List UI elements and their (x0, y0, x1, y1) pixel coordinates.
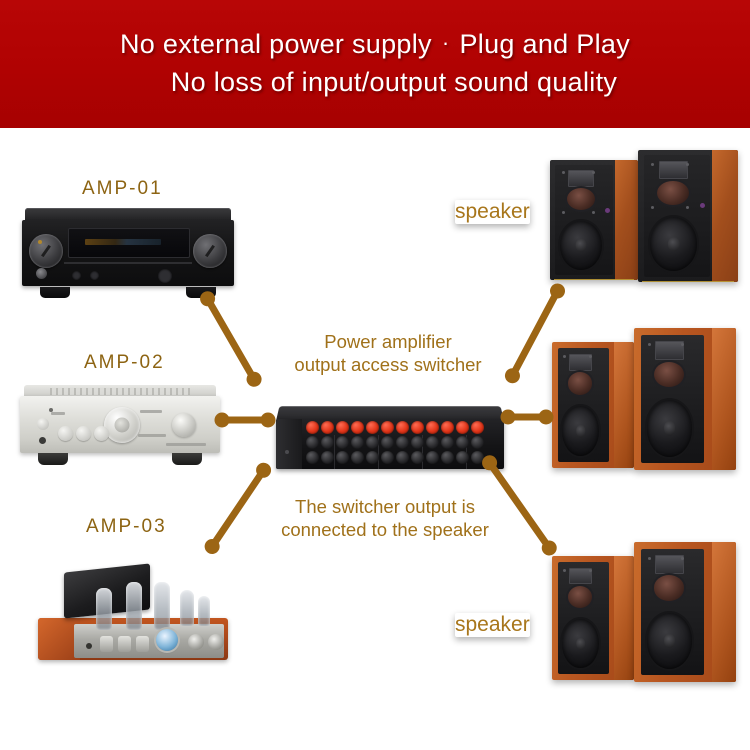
label-switcher-output-line2: connected to the speaker (255, 518, 515, 541)
switcher-post-row-negative (304, 451, 500, 464)
amp-01-foot-left (40, 287, 70, 298)
label-switcher-title-line1: Power amplifier (283, 330, 493, 353)
amp-01-power-led (38, 240, 42, 244)
banner-bullet-separator: · (432, 30, 460, 55)
woofer-driver (647, 613, 693, 668)
device-switcher (276, 405, 504, 477)
speaker-middle-right (634, 328, 736, 470)
label-switcher-title: Power amplifier output access switcher (283, 330, 493, 377)
baffle-screw (592, 171, 595, 174)
speaker-pair-bottom (548, 528, 748, 688)
switcher-post-red[interactable] (321, 421, 334, 434)
baffle-screw (563, 355, 566, 358)
woofer-driver (647, 400, 693, 456)
baffle-screw (648, 343, 651, 346)
midrange-driver (654, 575, 684, 600)
amp-02-small-knob-1 (58, 426, 73, 441)
switcher-post-black[interactable] (381, 451, 394, 464)
switcher-post-black[interactable] (456, 436, 469, 449)
switcher-post-black[interactable] (321, 436, 334, 449)
switcher-binding-post-array (304, 421, 500, 467)
switcher-post-black[interactable] (411, 451, 424, 464)
switcher-post-black[interactable] (381, 436, 394, 449)
midrange-driver (567, 188, 595, 210)
amp-02-small-knob-3 (94, 426, 109, 441)
connector-switcher-to-speakers-middle (508, 409, 546, 424)
speaker-bottom-right (634, 542, 736, 682)
amp-02-label-mark-2 (140, 410, 162, 413)
switcher-post-black[interactable] (351, 436, 364, 449)
switcher-post-red[interactable] (306, 421, 319, 434)
switcher-post-red[interactable] (456, 421, 469, 434)
speaker-baffle (644, 155, 710, 276)
amp-02-power-button (37, 418, 49, 430)
switcher-post-black[interactable] (336, 436, 349, 449)
banner-line-2: No loss of input/output sound quality (133, 65, 617, 101)
switcher-post-black[interactable] (336, 451, 349, 464)
banner-text-no-external-power: No external power supply (120, 29, 432, 59)
amp-02-foot-right (172, 453, 202, 465)
connector-endpoint (501, 409, 516, 424)
speaker-wood-side (614, 556, 634, 680)
switcher-post-row-positive (304, 421, 500, 434)
amp-02-brand-mark (166, 443, 206, 446)
baffle-screw (681, 557, 684, 560)
amp-02-small-knob-2 (76, 426, 91, 441)
amp-02-foot-left (38, 453, 68, 465)
baffle-screw (563, 569, 566, 572)
amp-03-vacuum-tube-5 (198, 596, 210, 626)
connector-amp02-to-switcher (222, 412, 268, 427)
speaker-baffle (641, 335, 704, 463)
speaker-wood-side (712, 542, 736, 682)
switcher-post-red[interactable] (426, 421, 439, 434)
woofer-driver (650, 217, 698, 270)
label-switcher-output-line1: The switcher output is (255, 495, 515, 518)
amp-02-label-mark-3 (138, 434, 166, 437)
baffle-screw (562, 171, 565, 174)
amp-03-binding-post-1 (188, 634, 204, 650)
amp-03-front-knob-3 (136, 636, 149, 652)
switcher-post-red[interactable] (381, 421, 394, 434)
label-amp-03: AMP-03 (86, 516, 167, 538)
device-amp-03 (38, 550, 228, 660)
label-speaker-top: speaker (455, 200, 530, 224)
label-amp-02: AMP-02 (84, 352, 165, 374)
switcher-post-black[interactable] (441, 451, 454, 464)
woofer-driver (560, 221, 602, 270)
amp-01-headphone-jack (36, 268, 47, 279)
device-amp-02 (20, 385, 220, 465)
switcher-post-black[interactable] (351, 451, 364, 464)
amp-03-vu-meter (156, 629, 178, 651)
speaker-baffle (641, 549, 704, 675)
speaker-baffle (558, 562, 609, 674)
speaker-middle-left (552, 342, 634, 468)
amp-01-divider (64, 262, 192, 264)
label-speaker-bottom: speaker (455, 613, 530, 637)
tweeter-driver (655, 555, 684, 573)
midrange-driver (568, 372, 592, 395)
baffle-screw (681, 343, 684, 346)
baffle-screw (562, 211, 565, 214)
switcher-post-red[interactable] (396, 421, 409, 434)
switcher-post-row-mid (304, 436, 500, 449)
speaker-indicator (605, 208, 610, 213)
label-amp-01: AMP-01 (82, 178, 163, 200)
switcher-post-black[interactable] (426, 436, 439, 449)
baffle-screw (648, 557, 651, 560)
switcher-post-black[interactable] (396, 451, 409, 464)
amp-01-display (68, 228, 190, 258)
amp-02-front-panel (20, 396, 220, 453)
amp-02-selector-knob (172, 413, 196, 437)
amp-01-button-row (72, 268, 184, 284)
infographic-root: No external power supply·Plug and Play N… (0, 0, 750, 750)
switcher-post-black[interactable] (396, 436, 409, 449)
switcher-post-red[interactable] (471, 421, 484, 434)
switcher-post-red[interactable] (411, 421, 424, 434)
switcher-post-black[interactable] (321, 451, 334, 464)
midrange-driver (654, 362, 684, 388)
connector-endpoint (539, 409, 554, 424)
header-banner: No external power supply·Plug and Play N… (0, 0, 750, 128)
woofer-driver (562, 406, 599, 456)
speaker-base-trim (554, 279, 635, 280)
tweeter-driver (655, 341, 684, 360)
baffle-screw (686, 163, 689, 166)
baffle-screw (651, 163, 654, 166)
speaker-pair-top (542, 146, 742, 281)
amp-03-front-knob-1 (100, 636, 113, 652)
amp-01-front-panel (22, 220, 234, 286)
switcher-post-red[interactable] (336, 421, 349, 434)
amp-03-power-switch (86, 643, 92, 649)
amp-02-label-mark-1 (51, 412, 65, 415)
speaker-bottom-left (552, 556, 634, 680)
woofer-driver (562, 619, 599, 668)
label-switcher-title-line2: output access switcher (283, 353, 493, 376)
connector-endpoint (215, 412, 230, 427)
speaker-base-trim (642, 281, 734, 282)
midrange-driver (657, 181, 689, 205)
midrange-driver (568, 586, 592, 608)
banner-line-1: No external power supply·Plug and Play (120, 27, 630, 63)
amp-02-volume-knob (104, 407, 140, 443)
switcher-post-black[interactable] (441, 436, 454, 449)
amp-03-front-knob-2 (118, 636, 131, 652)
amp-01-left-knob (29, 234, 63, 268)
speaker-baffle (558, 348, 609, 461)
amp-03-vacuum-tube-2 (126, 582, 142, 630)
speaker-top-right (638, 150, 738, 282)
connector-amp01-to-switcher (202, 295, 261, 383)
amp-03-vacuum-tube-3 (154, 582, 170, 630)
amp-03-vacuum-tube-1 (96, 588, 112, 630)
baffle-screw (592, 211, 595, 214)
switcher-left-end (276, 419, 302, 469)
amp-03-binding-post-2 (208, 634, 224, 650)
switcher-post-black[interactable] (456, 451, 469, 464)
banner-text-plug-and-play: Plug and Play (459, 29, 630, 59)
tweeter-driver (659, 161, 689, 179)
amp-02-headphone-jack (39, 437, 46, 444)
switcher-post-red[interactable] (351, 421, 364, 434)
switcher-post-black[interactable] (366, 451, 379, 464)
speaker-wood-side (712, 150, 738, 282)
baffle-screw (651, 206, 654, 209)
connector-endpoint (261, 412, 276, 427)
baffle-screw (686, 206, 689, 209)
speaker-indicator (700, 203, 705, 208)
speaker-pair-middle (548, 312, 748, 472)
connector-bar (205, 297, 258, 381)
speaker-baffle (555, 165, 613, 275)
speaker-wood-side (712, 328, 736, 470)
switcher-post-red[interactable] (366, 421, 379, 434)
switcher-post-black[interactable] (426, 451, 439, 464)
switcher-post-black[interactable] (306, 436, 319, 449)
speaker-wood-side (614, 342, 634, 468)
tweeter-driver (568, 170, 594, 186)
device-amp-01 (22, 208, 234, 298)
switcher-post-black[interactable] (471, 436, 484, 449)
speaker-wood-side (615, 160, 638, 280)
label-switcher-output: The switcher output is connected to the … (255, 495, 515, 542)
switcher-post-red[interactable] (441, 421, 454, 434)
speaker-top-left (550, 160, 638, 280)
switcher-post-black[interactable] (366, 436, 379, 449)
switcher-post-black[interactable] (411, 436, 424, 449)
switcher-post-black[interactable] (306, 451, 319, 464)
amp-01-right-knob (193, 234, 227, 268)
amp-03-vacuum-tube-4 (180, 590, 194, 626)
